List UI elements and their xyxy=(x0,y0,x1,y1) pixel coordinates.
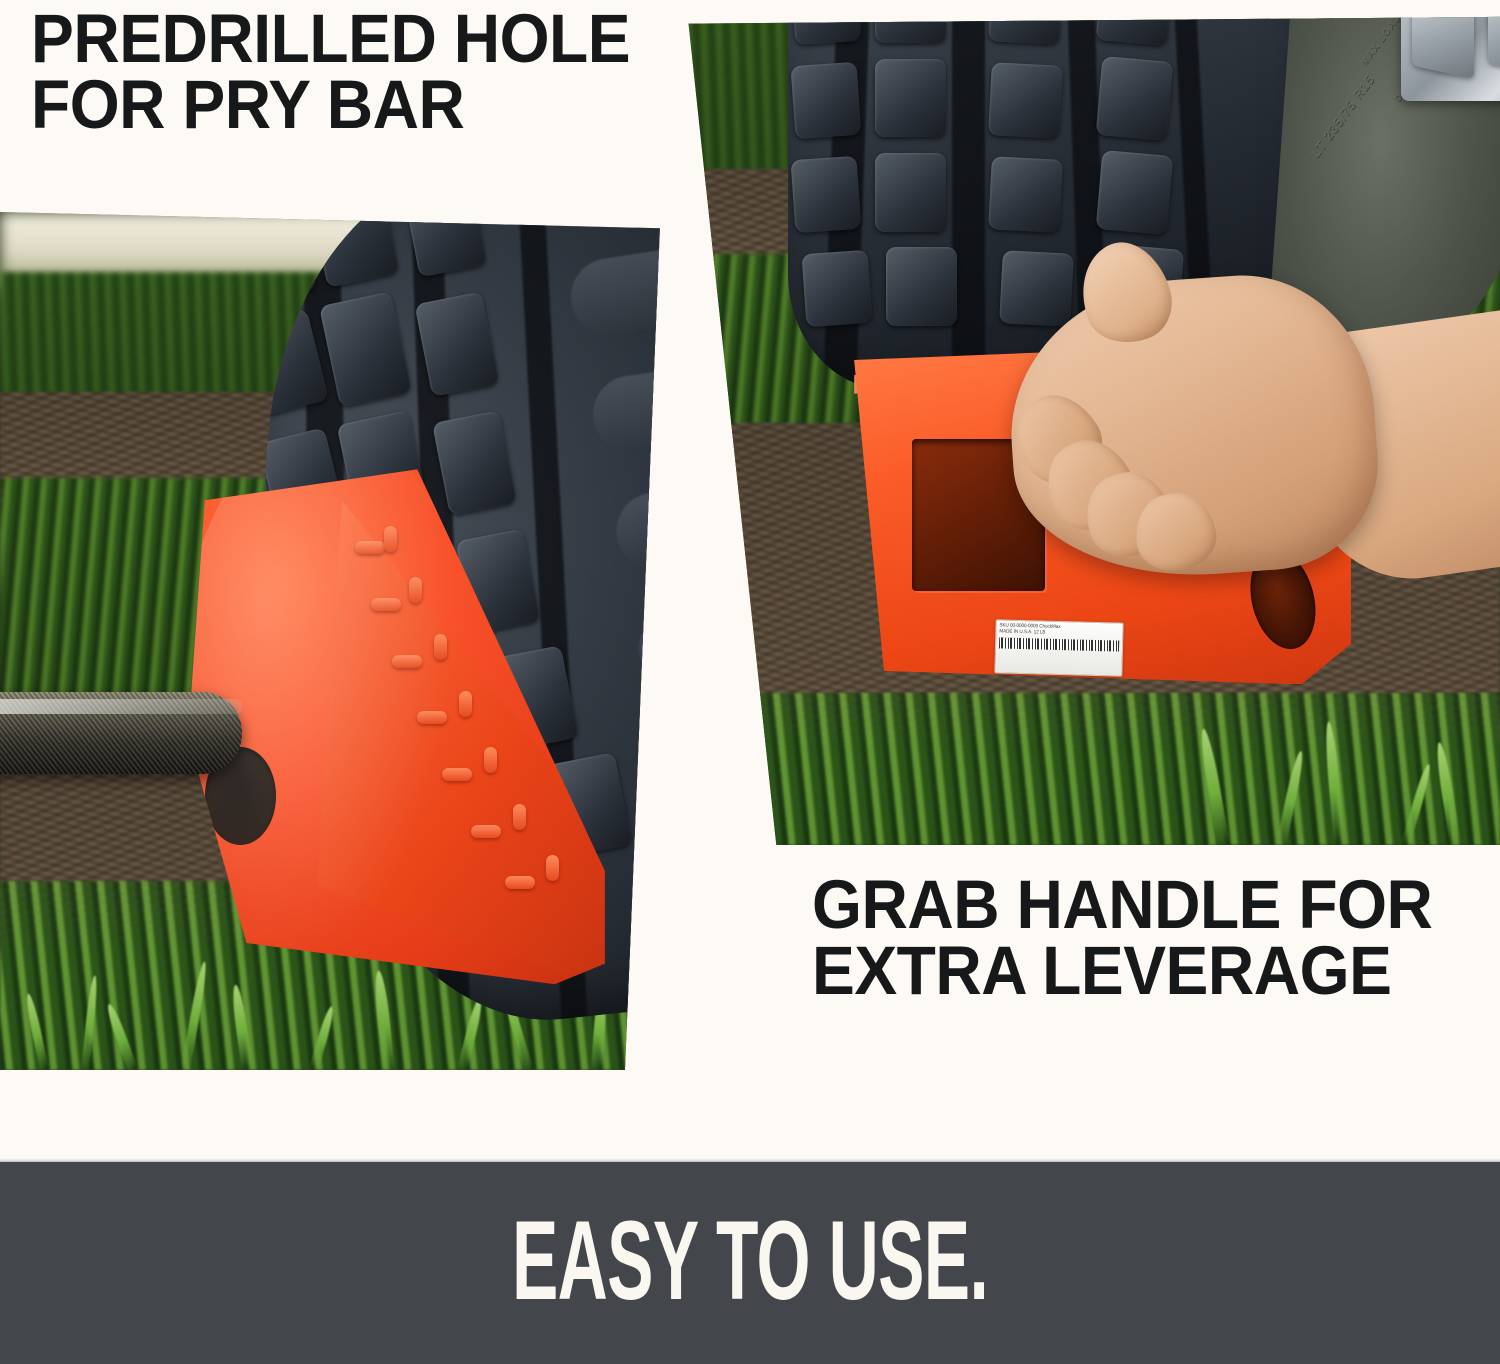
headline-grab-handle: GRAB HANDLE FOR EXTRA LEVERAGE xyxy=(812,872,1432,1004)
grab-handle-scene: LT 235/75 R15 MAX LOAD 1200 KG DOT 3RWDN… xyxy=(672,0,1500,845)
headline-predrilled-hole: PREDRILLED HOLE FOR PRY BAR xyxy=(31,6,630,138)
grass-blade xyxy=(747,777,765,845)
banner-text: EASY TO USE. xyxy=(512,1196,988,1325)
barcode-label: SKU 00-0000-0000 ChockMax MADE IN U.S.A.… xyxy=(994,619,1124,676)
product-infographic-page: PREDRILLED HOLE FOR PRY BAR xyxy=(0,0,1500,1364)
sidewall-marking: LT 235/75 R15 xyxy=(1307,71,1377,160)
photo-pry-bar xyxy=(0,212,672,1070)
bottom-banner: EASY TO USE. xyxy=(0,1162,1500,1364)
pry-bar xyxy=(0,692,242,774)
grass-foreground xyxy=(672,693,1500,845)
wheel-rim xyxy=(1401,0,1500,101)
barcode-icon xyxy=(999,637,1120,651)
photo-grab-handle: LT 235/75 R15 MAX LOAD 1200 KG DOT 3RWDN… xyxy=(672,0,1500,845)
pry-bar-scene xyxy=(0,212,672,1070)
grass-blade xyxy=(675,756,706,845)
